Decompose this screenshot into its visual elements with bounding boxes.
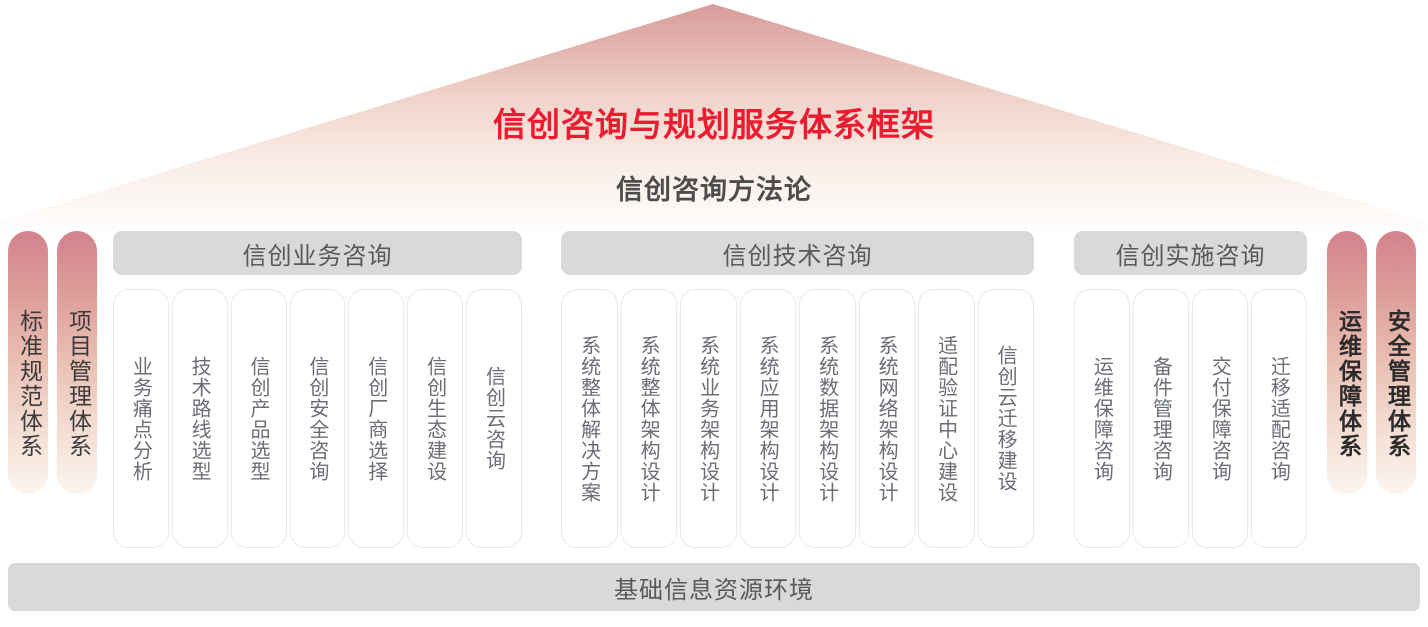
group-header-label: 信创技术咨询 [723, 236, 873, 271]
service-card-label: 系统整体解决方案 [562, 290, 617, 547]
service-card-label: 信创云咨询 [467, 290, 521, 547]
group-cards-implementation-consulting: 运维保障咨询备件管理咨询交付保障咨询迁移适配咨询 [1074, 289, 1307, 548]
page-title: 信创咨询与规划服务体系框架 [0, 98, 1428, 146]
service-card-label: 业务痛点分析 [114, 290, 168, 547]
service-card-label: 信创云迁移建设 [979, 290, 1034, 547]
diagram-canvas: 信创咨询与规划服务体系框架 信创咨询方法论 标准规范体系 项目管理体系 运维保障… [0, 0, 1428, 627]
service-card-label: 信创安全咨询 [291, 290, 345, 547]
service-card-label: 适配验证中心建设 [919, 290, 974, 547]
service-card[interactable]: 信创云咨询 [466, 289, 522, 548]
service-card[interactable]: 适配验证中心建设 [918, 289, 975, 548]
pillar-project-management: 项目管理体系 [57, 231, 97, 493]
group-cards-technical-consulting: 系统整体解决方案系统整体架构设计系统业务架构设计系统应用架构设计系统数据架构设计… [561, 289, 1034, 548]
service-card-label: 系统网络架构设计 [860, 290, 915, 547]
service-card[interactable]: 业务痛点分析 [113, 289, 169, 548]
service-card-label: 运维保障咨询 [1075, 290, 1129, 547]
service-card[interactable]: 系统整体解决方案 [561, 289, 618, 548]
service-card[interactable]: 信创厂商选择 [348, 289, 404, 548]
pillar-label: 安全管理体系 [1376, 231, 1416, 493]
pillar-security-management: 安全管理体系 [1376, 231, 1416, 493]
service-card[interactable]: 信创安全咨询 [290, 289, 346, 548]
group-header-business-consulting: 信创业务咨询 [113, 231, 522, 275]
service-card[interactable]: 备件管理咨询 [1133, 289, 1189, 548]
service-card[interactable]: 交付保障咨询 [1192, 289, 1248, 548]
service-card-label: 系统业务架构设计 [681, 290, 736, 547]
service-card[interactable]: 系统网络架构设计 [859, 289, 916, 548]
service-card-label: 系统数据架构设计 [800, 290, 855, 547]
service-card[interactable]: 信创产品选型 [231, 289, 287, 548]
service-card-label: 交付保障咨询 [1193, 290, 1247, 547]
pillar-ops-assurance: 运维保障体系 [1327, 231, 1367, 493]
page-subtitle: 信创咨询方法论 [0, 168, 1428, 207]
foundation-bar: 基础信息资源环境 [8, 563, 1420, 611]
service-card[interactable]: 运维保障咨询 [1074, 289, 1130, 548]
service-card[interactable]: 系统整体架构设计 [621, 289, 678, 548]
service-card[interactable]: 系统业务架构设计 [680, 289, 737, 548]
service-card-label: 备件管理咨询 [1134, 290, 1188, 547]
service-card[interactable]: 信创生态建设 [407, 289, 463, 548]
group-cards-business-consulting: 业务痛点分析技术路线选型信创产品选型信创安全咨询信创厂商选择信创生态建设信创云咨… [113, 289, 522, 548]
service-card[interactable]: 迁移适配咨询 [1251, 289, 1307, 548]
group-header-label: 信创业务咨询 [243, 236, 393, 271]
pillar-label: 标准规范体系 [8, 231, 48, 493]
foundation-label: 基础信息资源环境 [614, 570, 814, 605]
service-card-label: 系统应用架构设计 [741, 290, 796, 547]
pillar-standard-spec: 标准规范体系 [8, 231, 48, 493]
service-card-label: 迁移适配咨询 [1252, 290, 1306, 547]
service-card-label: 信创厂商选择 [349, 290, 403, 547]
service-card-label: 信创生态建设 [408, 290, 462, 547]
service-card-label: 系统整体架构设计 [622, 290, 677, 547]
group-header-technical-consulting: 信创技术咨询 [561, 231, 1034, 275]
pillar-label: 运维保障体系 [1327, 231, 1367, 493]
service-card-label: 技术路线选型 [173, 290, 227, 547]
service-card[interactable]: 信创云迁移建设 [978, 289, 1035, 548]
service-card[interactable]: 技术路线选型 [172, 289, 228, 548]
service-card[interactable]: 系统应用架构设计 [740, 289, 797, 548]
service-card-label: 信创产品选型 [232, 290, 286, 547]
service-card[interactable]: 系统数据架构设计 [799, 289, 856, 548]
group-header-label: 信创实施咨询 [1116, 236, 1266, 271]
pillar-label: 项目管理体系 [57, 231, 97, 493]
group-header-implementation-consulting: 信创实施咨询 [1074, 231, 1307, 275]
